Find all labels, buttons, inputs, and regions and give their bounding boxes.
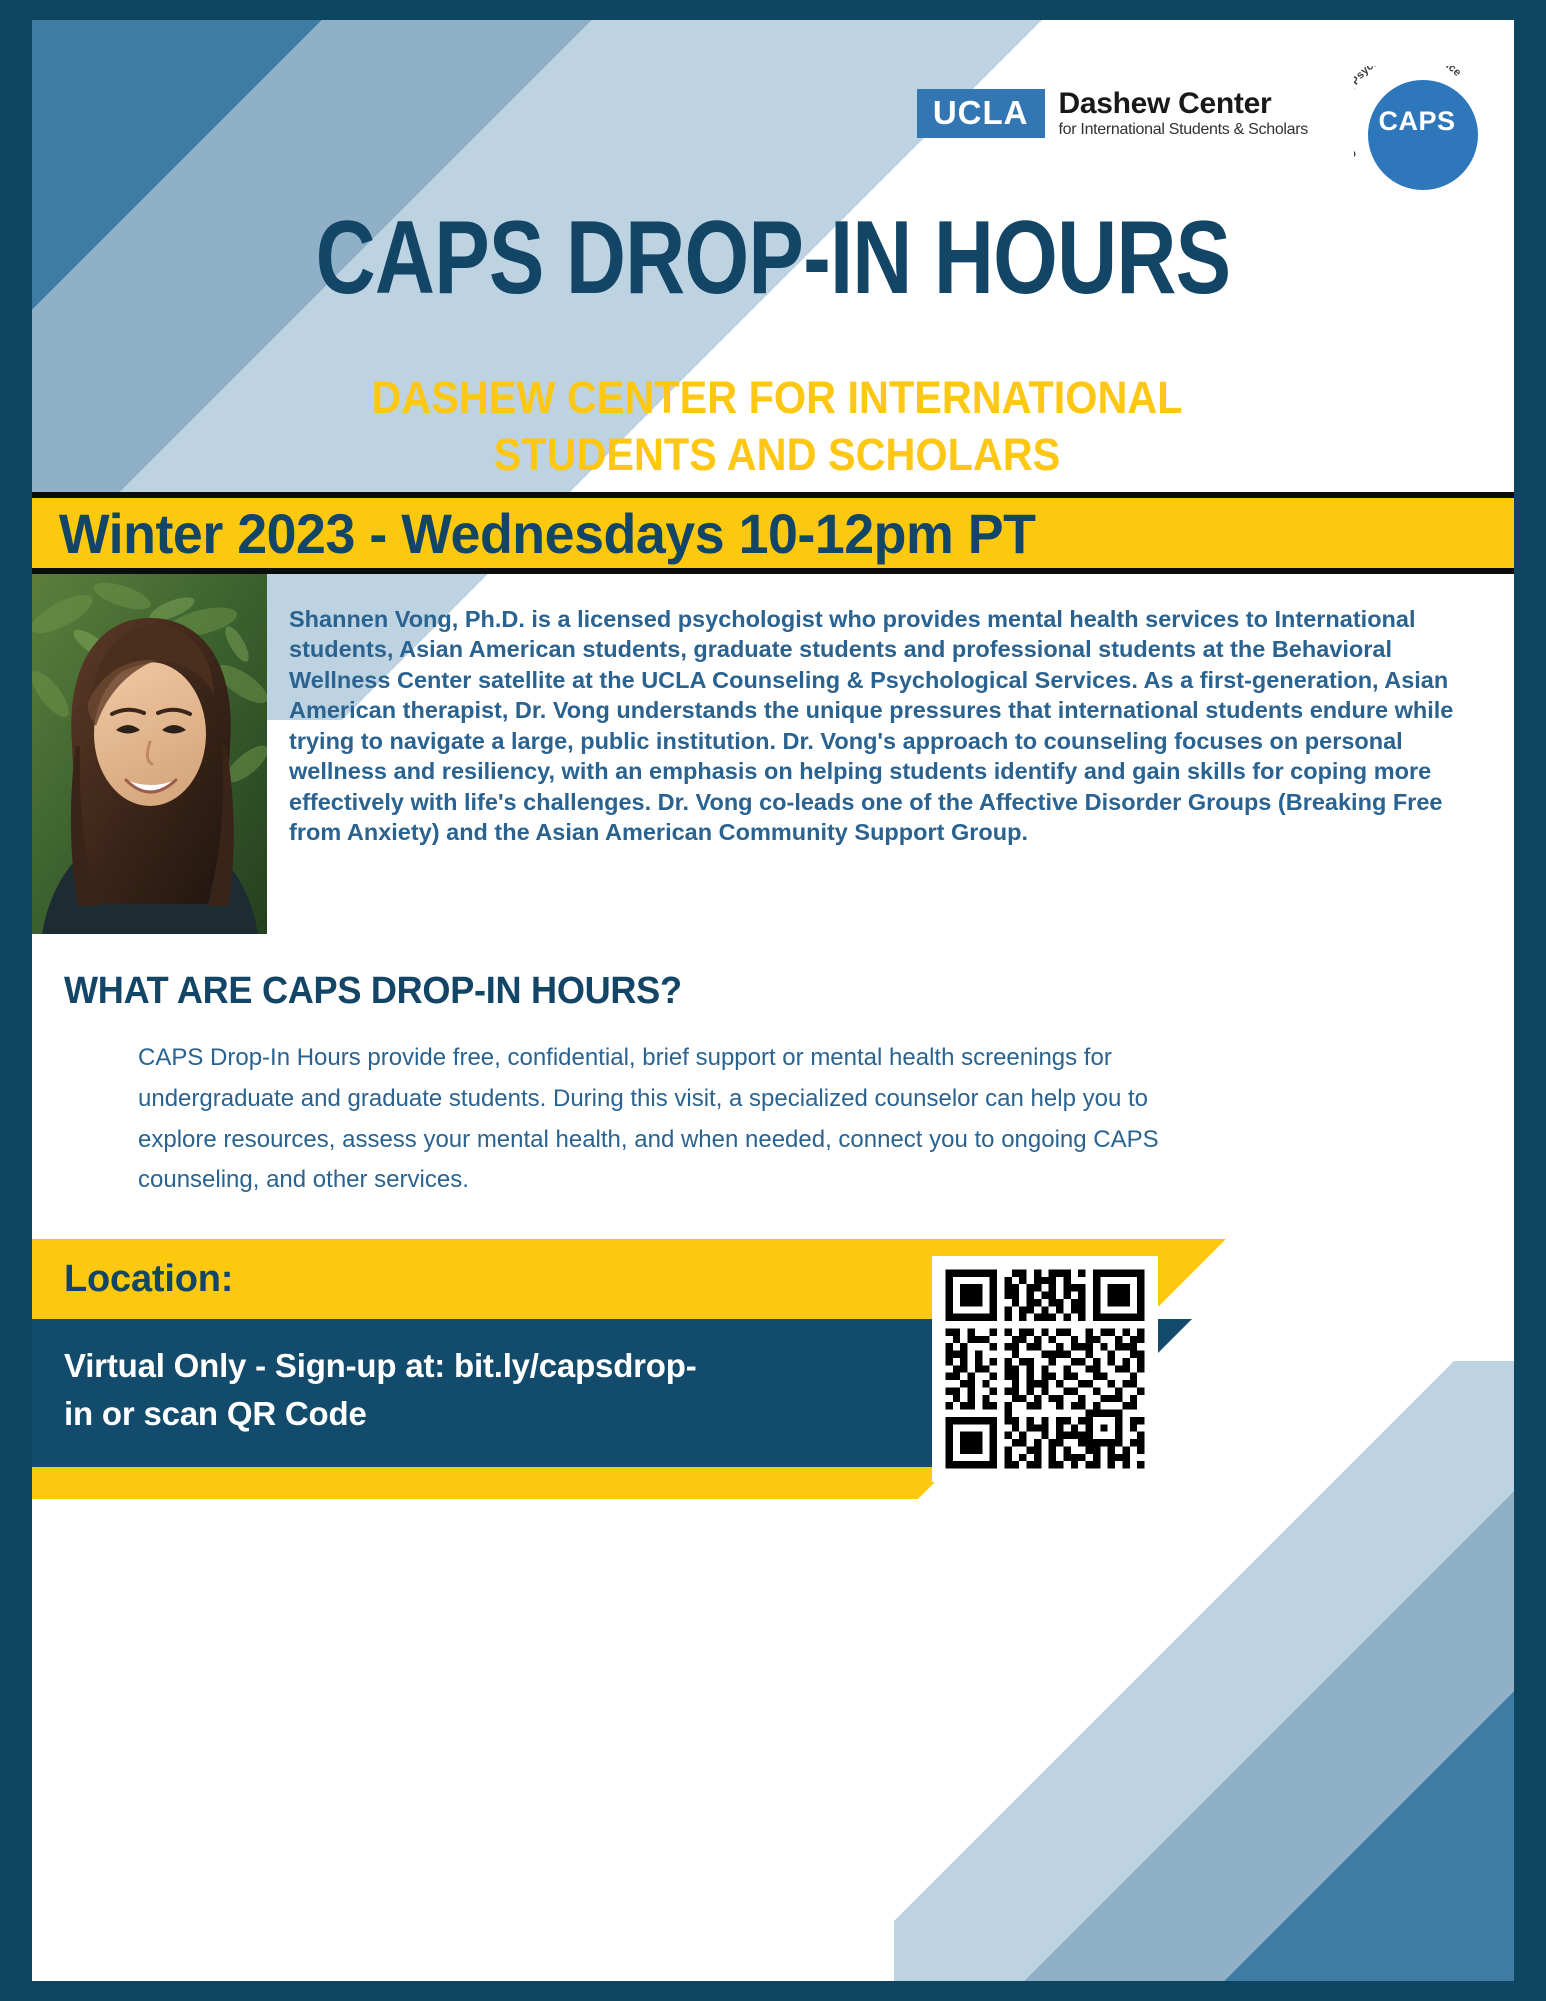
what-are-drop-in-hours-body: CAPS Drop-In Hours provide free, confide… [138,1038,1160,1201]
ucla-dashew-center-logo: UCLA Dashew Center for International Stu… [917,88,1308,139]
what-are-drop-in-hours-heading: WHAT ARE CAPS DROP-IN HOURS? [64,970,682,1013]
counselor-bio-section: Shannen Vong, Ph.D. is a licensed psycho… [32,574,1514,944]
counselor-photo [32,574,267,934]
location-gold-band-corner [1146,1239,1226,1319]
footer-gold-strip [32,1467,918,1499]
deco-stripe-steel-br [1224,1691,1514,1981]
ucla-badge: UCLA [917,89,1045,138]
deco-stripe-mid-br [1024,1491,1514,1981]
logo-row: UCLA Dashew Center for International Stu… [917,66,1478,190]
location-value[interactable]: Virtual Only - Sign-up at: bit.ly/capsdr… [64,1342,724,1437]
flyer-page: UCLA Dashew Center for International Stu… [0,0,1546,2001]
date-band-text: Winter 2023 - Wednesdays 10-12pm PT [32,498,1455,568]
caps-logo: Counseling & Psychological Services CAPS [1354,66,1478,190]
page-title: CAPS DROP-IN HOURS [180,206,1366,310]
dashew-logo-title: Dashew Center [1059,88,1309,120]
counselor-bio-text: Shannen Vong, Ph.D. is a licensed psycho… [267,574,1514,944]
qr-code[interactable] [932,1256,1158,1482]
caps-logo-label: CAPS [1354,66,1464,176]
location-label: Location: [64,1258,233,1301]
flyer-content: UCLA Dashew Center for International Stu… [32,20,1514,1981]
qr-code-image[interactable] [938,1262,1152,1476]
dashew-logo-subtitle: for International Students & Scholars [1059,121,1309,138]
dashew-wordmark: Dashew Center for International Students… [1059,88,1309,139]
date-band: Winter 2023 - Wednesdays 10-12pm PT [32,492,1514,574]
page-subtitle: DASHEW CENTER FOR INTERNATIONAL STUDENTS… [266,370,1287,483]
